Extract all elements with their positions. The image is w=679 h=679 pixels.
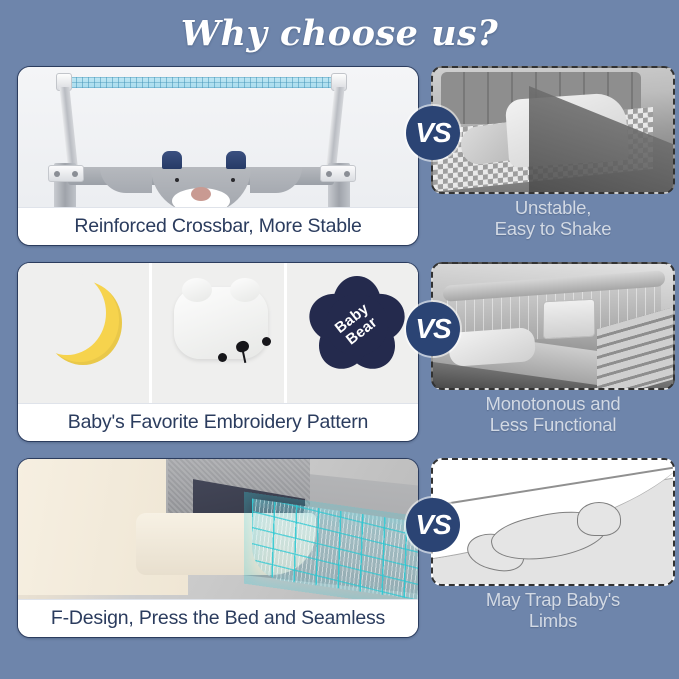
bear-eye-right-icon [231, 178, 235, 182]
con-caption-1-line1: Unstable, [495, 198, 612, 219]
con-caption-3-line2: Limbs [486, 611, 620, 632]
photo-unstable-bed-rail [431, 66, 675, 194]
comparison-rows: Reinforced Crossbar, More Stable VS Unst… [0, 66, 679, 654]
bracket-left-icon [48, 165, 84, 182]
con-caption-3: May Trap Baby's Limbs [486, 590, 620, 631]
con-block-3: May Trap Baby's Limbs [431, 458, 675, 654]
pro-card-3: F-Design, Press the Bed and Seamless [17, 458, 419, 638]
patch-bear-mouth-icon [242, 350, 246, 363]
con-caption-3-line1: May Trap Baby's [486, 590, 620, 611]
star-patch-icon: Baby Bear [303, 271, 411, 379]
rail-pocket-shape [543, 299, 595, 340]
swatch-cell-moon [18, 263, 152, 403]
pro-caption-1: Reinforced Crossbar, More Stable [18, 207, 418, 245]
pro-caption-3: F-Design, Press the Bed and Seamless [18, 599, 418, 637]
con-block-2: Monotonous and Less Functional [431, 262, 675, 458]
illustration-gap-traps-limbs [431, 458, 675, 586]
con-caption-2-line1: Monotonous and [485, 394, 620, 415]
con-block-1: Unstable, Easy to Shake [431, 66, 675, 262]
pro-caption-2: Baby's Favorite Embroidery Pattern [18, 403, 418, 441]
moon-patch-icon [44, 281, 122, 365]
comparison-row-1: Reinforced Crossbar, More Stable VS Unst… [0, 66, 679, 262]
pillow-shape [448, 327, 536, 367]
rail-strut-left-icon [59, 87, 78, 175]
mesh-panel-icon [70, 77, 332, 88]
rail-strut-right-icon [325, 87, 344, 175]
pro-card-2: Baby Bear Baby's Favorite Embroidery Pat… [17, 262, 419, 442]
vs-badge-2: VS [406, 302, 460, 356]
bracket-right-icon [320, 165, 356, 182]
swatch-cell-star: Baby Bear [287, 263, 418, 403]
crossbar-skirt-right-icon [250, 167, 302, 193]
bed-rail-reinforced-crossbar-illustration [18, 67, 418, 207]
baby-head-icon [577, 502, 621, 536]
embroidery-swatches: Baby Bear [18, 263, 418, 403]
patch-bear-eye-left-icon [218, 353, 227, 362]
bear-ear-right-icon [226, 151, 246, 169]
comparison-row-3: F-Design, Press the Bed and Seamless VS … [0, 458, 679, 654]
bear-nose-icon [191, 187, 211, 201]
pro-card-1: Reinforced Crossbar, More Stable [17, 66, 419, 246]
con-caption-2-line2: Less Functional [485, 415, 620, 436]
page-title: Why choose us? [181, 13, 499, 54]
page-header: Why choose us? [0, 0, 679, 66]
con-caption-1-line2: Easy to Shake [495, 219, 612, 240]
comparison-row-2: Baby Bear Baby's Favorite Embroidery Pat… [0, 262, 679, 458]
bear-face-patch-icon [174, 287, 268, 359]
vs-badge-1: VS [406, 106, 460, 160]
patch-bear-eye-right-icon [262, 337, 271, 346]
crossbar-skirt-left-icon [100, 167, 152, 193]
swatch-cell-bear [152, 263, 286, 403]
vs-badge-3: VS [406, 498, 460, 552]
con-caption-2: Monotonous and Less Functional [485, 394, 620, 435]
bear-ear-left-icon [162, 151, 182, 169]
bear-eye-left-icon [175, 178, 179, 182]
f-design-base-illustration [18, 459, 418, 599]
photo-plain-bed-rail [431, 262, 675, 390]
con-caption-1: Unstable, Easy to Shake [495, 198, 612, 239]
